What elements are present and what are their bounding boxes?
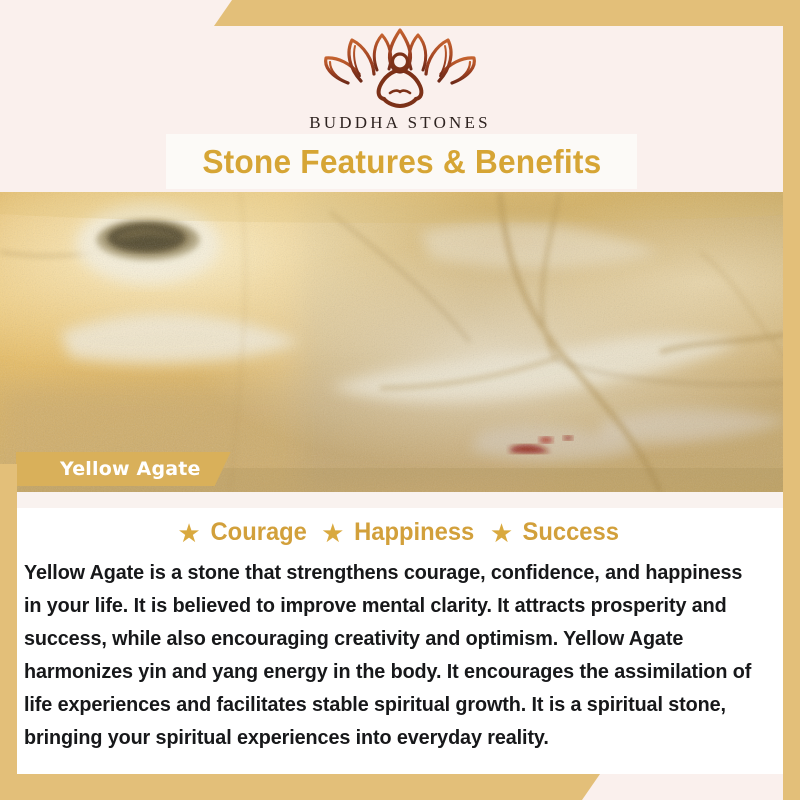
- benefits-list: ★ Courage ★ Happiness ★ Success: [16, 518, 783, 547]
- lotus-meditating-figure-icon: [314, 24, 486, 108]
- gold-frame-bottom: [0, 774, 600, 800]
- stone-description: Yellow Agate is a stone that strengthens…: [24, 557, 757, 755]
- benefit-item: ★ Courage: [177, 518, 309, 547]
- stone-texture-image: [0, 192, 800, 492]
- stone-photo: [0, 192, 800, 492]
- gold-frame-left: [0, 464, 17, 774]
- panel-top-fade: [16, 492, 783, 508]
- benefit-item: ★ Success: [490, 518, 622, 547]
- page-title: Stone Features & Benefits: [202, 143, 601, 181]
- stone-name-badge: Yellow Agate: [16, 452, 231, 486]
- gold-frame-top: [214, 0, 800, 26]
- content-panel: ★ Courage ★ Happiness ★ Success Yellow A…: [16, 492, 783, 774]
- benefit-label: Success: [523, 518, 619, 547]
- star-icon: ★: [321, 520, 344, 546]
- title-panel: Stone Features & Benefits: [166, 134, 637, 189]
- brand-logo: BUDDHA STONES: [0, 24, 800, 133]
- brand-name: BUDDHA STONES: [309, 113, 491, 133]
- gold-frame-right: [783, 26, 800, 800]
- infographic-page: BUDDHA STONES Stone Features & Benefits: [0, 0, 800, 800]
- star-icon: ★: [490, 520, 513, 546]
- stone-name-label: Yellow Agate: [60, 458, 201, 480]
- benefit-label: Happiness: [355, 518, 475, 547]
- benefit-label: Courage: [210, 518, 306, 547]
- header: BUDDHA STONES Stone Features & Benefits: [0, 0, 800, 192]
- benefit-item: ★ Happiness: [321, 518, 478, 547]
- star-icon: ★: [177, 520, 200, 546]
